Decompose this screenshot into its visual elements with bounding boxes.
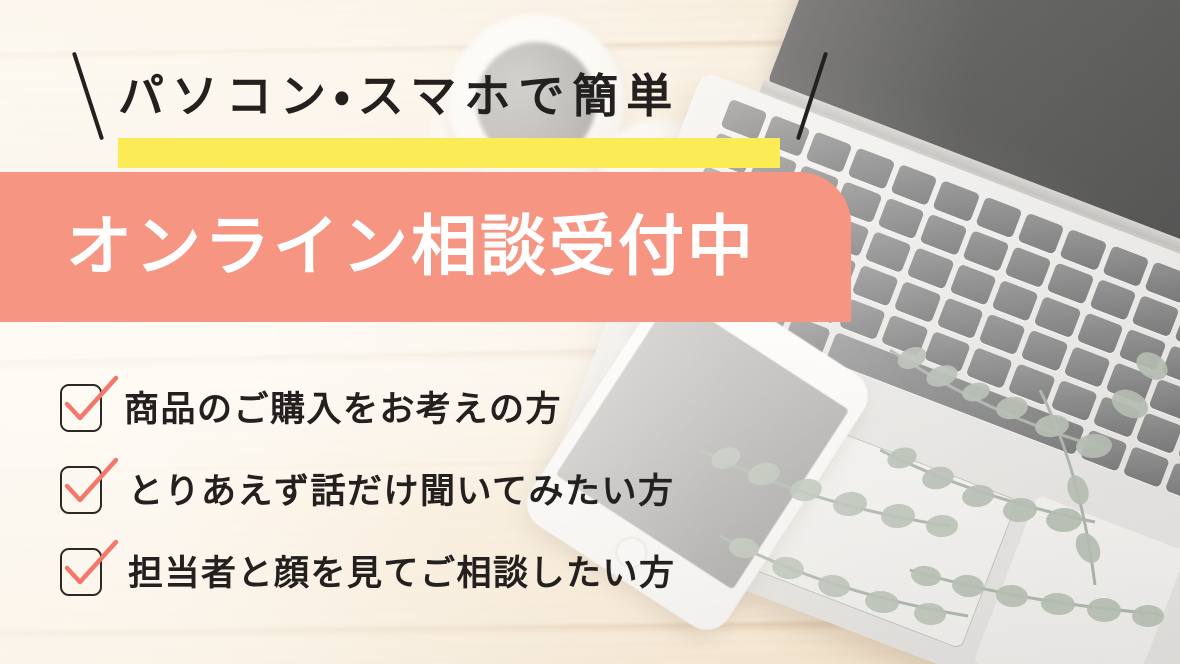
headline-wrap: パソコン・スマホで簡単 — [118, 42, 680, 150]
list-item-label: 商品のご購入をお考えの方 — [124, 393, 562, 428]
checkmark-icon — [58, 536, 124, 602]
right-slash-decoration — [796, 52, 828, 141]
list-item[interactable]: とりあえず話だけ聞いてみたい方 — [60, 464, 840, 520]
banner-content: パソコン・スマホで簡単 オンライン相談受付中 商品のご購入をお考えの方 — [0, 0, 1180, 664]
checkbox-checked-icon[interactable] — [60, 548, 106, 600]
headline-text: パソコン・スマホで簡単 — [118, 73, 680, 119]
checkbox-checked-icon[interactable] — [60, 466, 106, 518]
checklist: 商品のご購入をお考えの方 とりあえず話だけ聞いてみたい方 — [60, 382, 840, 602]
main-title-band: オンライン相談受付中 — [0, 172, 851, 322]
online-consultation-banner: パソコン・スマホで簡単 オンライン相談受付中 商品のご購入をお考えの方 — [0, 0, 1180, 664]
checkmark-icon — [58, 454, 124, 520]
checkmark-icon — [58, 372, 124, 438]
left-slash-decoration — [72, 52, 104, 141]
list-item-label: とりあえず話だけ聞いてみたい方 — [128, 475, 674, 510]
list-item[interactable]: 商品のご購入をお考えの方 — [60, 382, 840, 438]
list-item[interactable]: 担当者と顔を見てご相談したい方 — [60, 546, 840, 602]
headline-row: パソコン・スマホで簡単 — [0, 42, 880, 150]
checkbox-checked-icon[interactable] — [60, 384, 106, 436]
main-title-text: オンライン相談受付中 — [66, 214, 756, 280]
list-item-label: 担当者と顔を見てご相談したい方 — [128, 557, 676, 592]
